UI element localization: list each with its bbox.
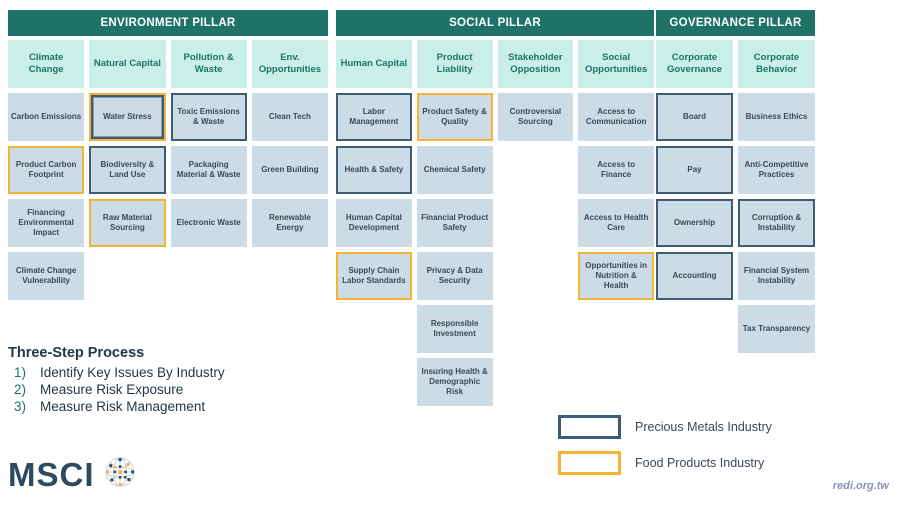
legend-swatch-navy: [558, 415, 621, 439]
issue-cell[interactable]: Carbon Emissions: [8, 93, 84, 141]
issue-cell[interactable]: Access to Health Care: [578, 199, 654, 247]
pillar-columns-governance: Corporate GovernanceBoardPayOwnershipAcc…: [656, 40, 815, 358]
issue-cell[interactable]: Electronic Waste: [171, 199, 247, 247]
subcategory-column: Env. OpportunitiesClean TechGreen Buildi…: [252, 40, 328, 305]
issue-cell[interactable]: Clean Tech: [252, 93, 328, 141]
issue-cell[interactable]: Raw Material Sourcing: [89, 199, 165, 247]
issue-cell[interactable]: Financial System Instability: [738, 252, 815, 300]
issue-cell[interactable]: Supply Chain Labor Standards: [336, 252, 412, 300]
subcategory-column: Stakeholder OppositionControversial Sour…: [498, 40, 574, 411]
subcategory-column: Corporate GovernanceBoardPayOwnershipAcc…: [656, 40, 733, 358]
issue-cell[interactable]: Financial Product Safety: [417, 199, 493, 247]
issue-cell[interactable]: Water Stress: [89, 93, 165, 141]
pillar-header-social: SOCIAL PILLAR: [336, 10, 654, 36]
issue-cell[interactable]: Labor Management: [336, 93, 412, 141]
issue-cell[interactable]: Accounting: [656, 252, 733, 300]
issue-cell[interactable]: Board: [656, 93, 733, 141]
process-step: 3)Measure Risk Management: [8, 399, 308, 414]
subcategory-header[interactable]: Corporate Behavior: [738, 40, 815, 88]
subcategory-header[interactable]: Stakeholder Opposition: [498, 40, 574, 88]
legend-swatch-orange: [558, 451, 621, 475]
issue-cell[interactable]: Product Safety & Quality: [417, 93, 493, 141]
pillar-governance: GOVERNANCE PILLARCorporate GovernanceBoa…: [656, 10, 815, 36]
issue-cell[interactable]: Business Ethics: [738, 93, 815, 141]
subcategory-header[interactable]: Social Opportunities: [578, 40, 654, 88]
process-step-number: 1): [8, 365, 40, 380]
three-step-process: Three-Step Process 1)Identify Key Issues…: [8, 345, 308, 416]
process-step: 2)Measure Risk Exposure: [8, 382, 308, 397]
pillar-columns-environment: Climate ChangeCarbon EmissionsProduct Ca…: [8, 40, 328, 305]
pillar-columns-social: Human CapitalLabor ManagementHealth & Sa…: [336, 40, 654, 411]
issue-cell[interactable]: Controversial Sourcing: [498, 93, 574, 141]
subcategory-header[interactable]: Corporate Governance: [656, 40, 733, 88]
issue-cell[interactable]: Green Building: [252, 146, 328, 194]
process-step: 1)Identify Key Issues By Industry: [8, 365, 308, 380]
process-step-text: Identify Key Issues By Industry: [40, 365, 225, 380]
issue-cell[interactable]: Privacy & Data Security: [417, 252, 493, 300]
pillar-environment: ENVIRONMENT PILLARClimate ChangeCarbon E…: [8, 10, 328, 36]
globe-network-icon: [103, 455, 137, 494]
subcategory-column: Natural CapitalWater StressBiodiversity …: [89, 40, 165, 305]
issue-cell[interactable]: Tax Transparency: [738, 305, 815, 353]
subcategory-header[interactable]: Env. Opportunities: [252, 40, 328, 88]
msci-logo: MSCI: [8, 455, 137, 494]
issue-cell[interactable]: Ownership: [656, 199, 733, 247]
legend-label: Precious Metals Industry: [635, 420, 772, 434]
issue-cell[interactable]: Packaging Material & Waste: [171, 146, 247, 194]
issue-cell[interactable]: Product Carbon Footprint: [8, 146, 84, 194]
issue-cell[interactable]: Corruption & Instability: [738, 199, 815, 247]
legend-item: Precious Metals Industry: [558, 415, 772, 439]
issue-cell[interactable]: Insuring Health & Demographic Risk: [417, 358, 493, 406]
issue-cell[interactable]: Climate Change Vulnerability: [8, 252, 84, 300]
subcategory-column: Corporate BehaviorBusiness EthicsAnti-Co…: [738, 40, 815, 358]
legend-label: Food Products Industry: [635, 456, 764, 470]
issue-cell[interactable]: Anti-Competitive Practices: [738, 146, 815, 194]
subcategory-header[interactable]: Climate Change: [8, 40, 84, 88]
subcategory-header[interactable]: Human Capital: [336, 40, 412, 88]
issue-cell[interactable]: Pay: [656, 146, 733, 194]
issue-cell[interactable]: Access to Finance: [578, 146, 654, 194]
process-step-number: 2): [8, 382, 40, 397]
issue-cell[interactable]: Responsible Investment: [417, 305, 493, 353]
pillar-social: SOCIAL PILLARHuman CapitalLabor Manageme…: [336, 10, 654, 36]
subcategory-column: Product LiabilityProduct Safety & Qualit…: [417, 40, 493, 411]
process-step-text: Measure Risk Management: [40, 399, 205, 414]
subcategory-header[interactable]: Product Liability: [417, 40, 493, 88]
subcategory-column: Human CapitalLabor ManagementHealth & Sa…: [336, 40, 412, 411]
issue-cell[interactable]: Toxic Emissions & Waste: [171, 93, 247, 141]
subcategory-column: Social OpportunitiesAccess to Communicat…: [578, 40, 654, 411]
issue-cell[interactable]: Chemical Safety: [417, 146, 493, 194]
legend-item: Food Products Industry: [558, 451, 772, 475]
issue-cell[interactable]: Health & Safety: [336, 146, 412, 194]
issue-cell[interactable]: Human Capital Development: [336, 199, 412, 247]
issue-cell[interactable]: Financing Environmental Impact: [8, 199, 84, 247]
msci-wordmark: MSCI: [8, 458, 95, 491]
subcategory-column: Pollution & WasteToxic Emissions & Waste…: [171, 40, 247, 305]
issue-cell[interactable]: Access to Communication: [578, 93, 654, 141]
process-step-text: Measure Risk Exposure: [40, 382, 183, 397]
process-step-list: 1)Identify Key Issues By Industry2)Measu…: [8, 365, 308, 414]
issue-cell[interactable]: Renewable Energy: [252, 199, 328, 247]
issue-cell[interactable]: Biodiversity & Land Use: [89, 146, 165, 194]
industry-legend: Precious Metals IndustryFood Products In…: [558, 415, 772, 487]
subcategory-column: Climate ChangeCarbon EmissionsProduct Ca…: [8, 40, 84, 305]
issue-cell[interactable]: Opportunities in Nutrition & Health: [578, 252, 654, 300]
pillar-header-environment: ENVIRONMENT PILLAR: [8, 10, 328, 36]
process-step-number: 3): [8, 399, 40, 414]
pillar-header-governance: GOVERNANCE PILLAR: [656, 10, 815, 36]
subcategory-header[interactable]: Pollution & Waste: [171, 40, 247, 88]
site-watermark: redi.org.tw: [833, 480, 889, 492]
subcategory-header[interactable]: Natural Capital: [89, 40, 165, 88]
process-title: Three-Step Process: [8, 345, 308, 361]
